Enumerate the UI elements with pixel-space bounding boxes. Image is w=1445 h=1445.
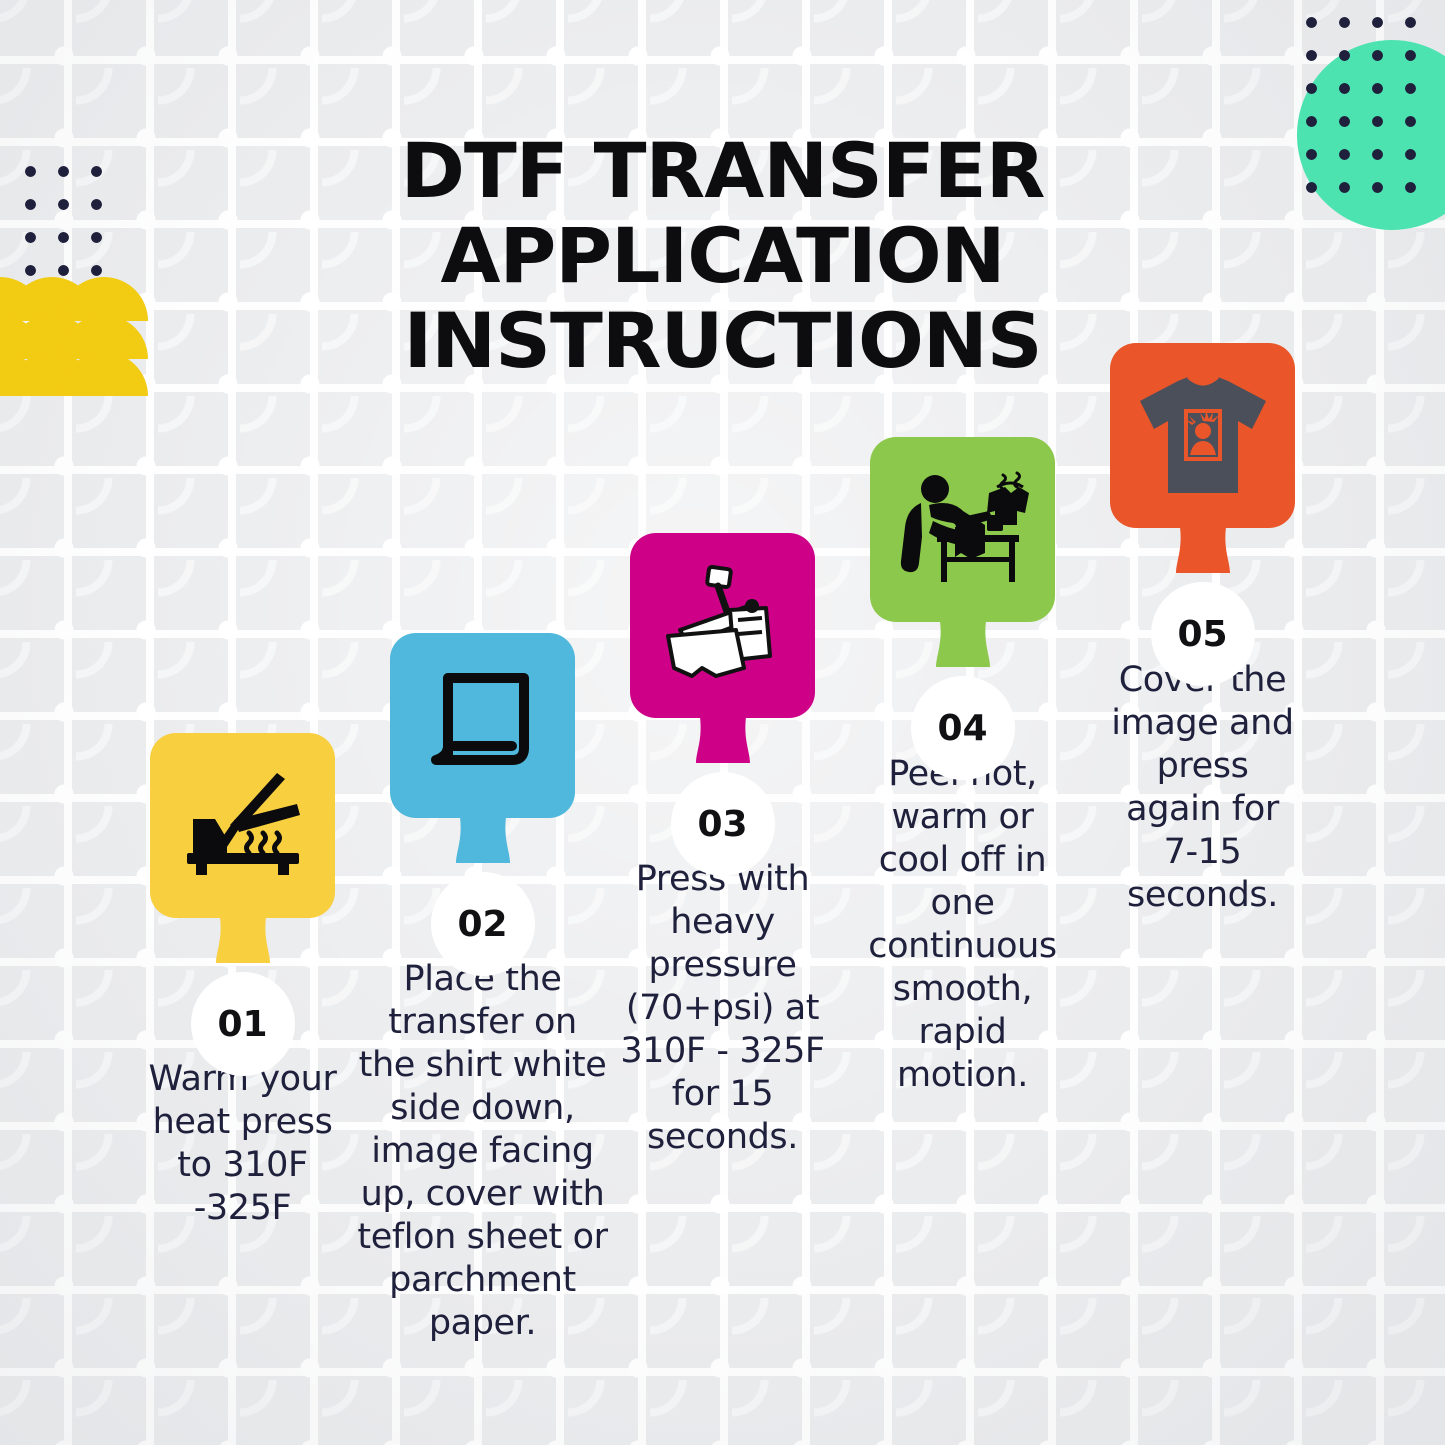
step-01-caption: Warm your heat press to 310F -325F [133, 1058, 353, 1230]
step-01[interactable]: 01 Warm your heat press to 310F -325F [150, 733, 335, 918]
step-02-card[interactable] [390, 633, 575, 818]
step-03-caption: Press with heavy pressure (70+psi) at 31… [615, 858, 830, 1159]
step-02-number: 02 [457, 904, 507, 945]
step-04[interactable]: 04 Peel hot, warm or cool off in one con… [870, 437, 1055, 622]
step-05-card[interactable] [1110, 343, 1295, 528]
step-03[interactable]: 03 Press with heavy pressure (70+psi) at… [630, 533, 815, 718]
infographic-canvas: DTF TRANSFER APPLICATION INSTRUCTIONS [0, 0, 1445, 1445]
step-01-number: 01 [217, 1004, 267, 1045]
heat-press-open-icon [179, 767, 307, 885]
printed-tshirt-icon [1132, 373, 1274, 499]
step-03-number-bubble[interactable]: 03 [671, 772, 775, 876]
step-05[interactable]: 05 Cover the image and press again for 7… [1110, 343, 1295, 528]
steps-container: 01 Warm your heat press to 310F -325F [0, 0, 1445, 1445]
step-04-number: 04 [937, 708, 987, 749]
step-03-number: 03 [697, 804, 747, 845]
step-01-card[interactable] [150, 733, 335, 918]
step-02-number-bubble[interactable]: 02 [431, 872, 535, 976]
step-05-number: 05 [1177, 614, 1227, 655]
step-04-caption: Peel hot, warm or cool off in one contin… [868, 753, 1058, 1097]
step-03-card[interactable] [630, 533, 815, 718]
step-01-number-bubble[interactable]: 01 [191, 972, 295, 1076]
person-peeling-transfer-icon [893, 469, 1033, 591]
step-04-card[interactable] [870, 437, 1055, 622]
step-02-caption: Place the transfer on the shirt white si… [357, 958, 609, 1345]
transfer-sheet-icon [424, 670, 542, 782]
step-05-caption: Cover the image and press again for 7-15… [1108, 659, 1298, 917]
step-02[interactable]: 02 Place the transfer on the shirt white… [390, 633, 575, 818]
heat-press-machine-icon [658, 564, 788, 688]
step-05-number-bubble[interactable]: 05 [1151, 582, 1255, 686]
step-04-number-bubble[interactable]: 04 [911, 676, 1015, 780]
